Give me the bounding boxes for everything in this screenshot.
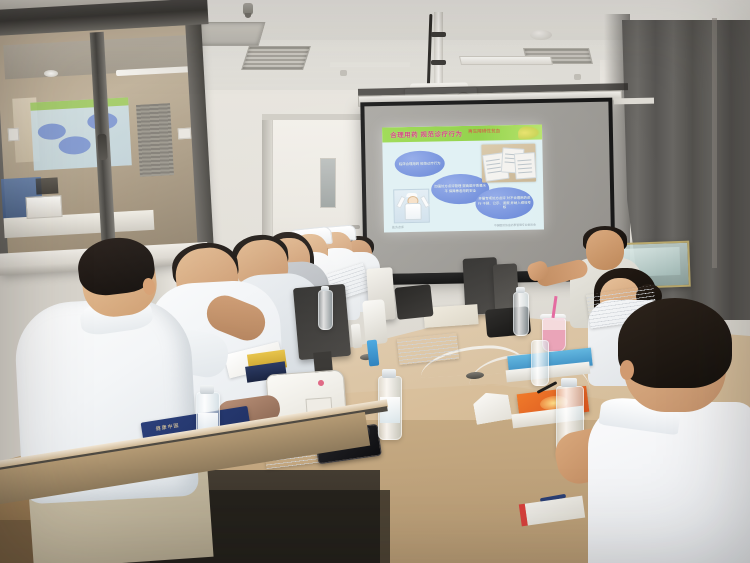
ceiling-fitting-icon [340,70,347,76]
desktop-equipment [394,284,433,320]
bottle-cap [200,385,214,394]
slide-bubble: 临床合理用药 规范诊疗行为 [394,150,444,177]
water-bottle [318,290,333,330]
smoke-detector-icon [530,30,552,40]
slide-cartoon-figure-icon [393,189,430,224]
cable-clamp [431,60,446,65]
desktop-equipment [362,299,388,345]
wall-socket-icon [178,128,192,140]
slide-footer-left: 处方点评 [392,225,404,229]
ceiling-light [459,56,553,65]
door-window [320,158,336,208]
window-handle[interactable] [97,134,107,160]
slide-footer-right: 中国医院协会药事管理专业委员会 [494,223,536,228]
document-card [514,152,536,179]
white-storage-box [25,195,62,219]
projected-slide: 合理用药 规范诊疗行为 再生障碍性贫血 临床合理用药 规范诊疗行为 加强处方点评… [382,124,544,232]
ceiling-light [330,62,411,67]
attendee-ear [620,360,634,380]
ceiling-fitting-icon [574,74,581,80]
slide-document-photo [481,144,536,183]
cable-clamp [431,32,446,37]
slide-bubble: 开展专项处方点评 对不合理用药进行 干预、公示、通报 并纳入绩效考核 [475,187,534,220]
bottle-cap [382,369,396,378]
air-vent-icon [241,46,311,70]
roller-blind[interactable] [136,103,174,177]
curtain-gap [712,18,717,268]
reflection-bubble [58,135,91,155]
wall-rail [614,98,654,105]
meeting-room-photo: 医疗质量安全 合理用药 规范诊疗行为 再生障碍性贫血 临床合理用药 规范诊疗行为… [0,0,750,563]
bottle-cap [516,287,525,293]
slide-subtitle: 再生障碍性贫血 [468,128,500,135]
bottle-cap [321,286,329,291]
bottle-cap [561,378,577,387]
water-bottle [531,340,549,386]
slide-title: 合理用药 规范诊疗行为 [390,128,462,139]
sprinkler-icon [243,3,253,15]
desk-mat-title: 健康中国 [155,422,180,433]
projector-mount-pole [434,12,443,90]
reflection-bubble [37,123,66,141]
attendee-hair [618,298,732,388]
window-reflection-of-slide [30,97,132,170]
water-bottle [513,292,529,336]
downlight-icon [44,70,58,77]
presenter-head [586,230,624,270]
wall-socket-icon [8,128,20,142]
counter-equipment [36,177,59,194]
